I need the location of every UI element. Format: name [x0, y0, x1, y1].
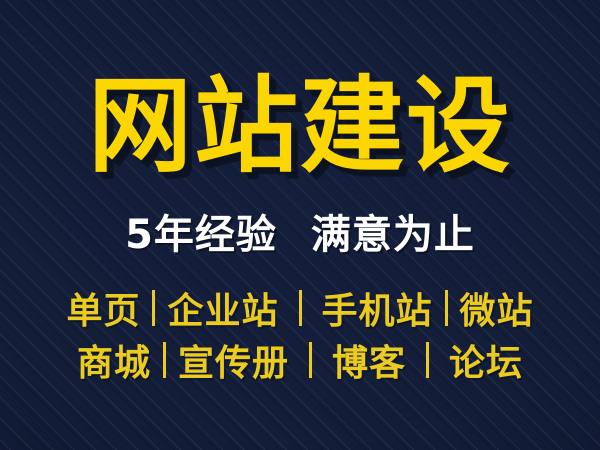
- tag-divider: [445, 290, 448, 326]
- service-tag-mobile-site[interactable]: 手机站: [322, 282, 433, 334]
- service-tag-forum[interactable]: 论坛: [449, 334, 523, 386]
- tag-divider: [309, 342, 312, 378]
- subtitle-satisfaction: 满意为止: [311, 202, 475, 260]
- subtitle-row: 5年经验 满意为止: [125, 202, 475, 260]
- service-tag-row-1: 单页 企业站 手机站 微站: [66, 284, 533, 332]
- tag-divider: [152, 290, 155, 326]
- service-tag-single-page[interactable]: 单页: [66, 282, 140, 334]
- service-tag-mall[interactable]: 商城: [77, 334, 151, 386]
- tag-divider: [163, 342, 166, 378]
- service-tag-micro-site[interactable]: 微站: [460, 282, 534, 334]
- tag-divider: [299, 290, 302, 326]
- tag-divider: [426, 342, 429, 378]
- subtitle-experience: 5年经验: [125, 202, 277, 260]
- service-tag-list: 单页 企业站 手机站 微站 商城 宣传册 博客 论坛: [66, 284, 533, 384]
- service-tag-enterprise-site[interactable]: 企业站: [167, 282, 278, 334]
- service-tag-brochure[interactable]: 宣传册: [178, 334, 289, 386]
- service-tag-row-2: 商城 宣传册 博客 论坛: [66, 336, 533, 384]
- poster-banner: 网站建设 5年经验 满意为止 单页 企业站 手机站 微站 商城 宣传册 博客: [0, 0, 600, 450]
- service-tag-blog[interactable]: 博客: [332, 334, 406, 386]
- page-title: 网站建设: [88, 74, 512, 178]
- poster-content: 网站建设 5年经验 满意为止 单页 企业站 手机站 微站 商城 宣传册 博客: [0, 0, 600, 450]
